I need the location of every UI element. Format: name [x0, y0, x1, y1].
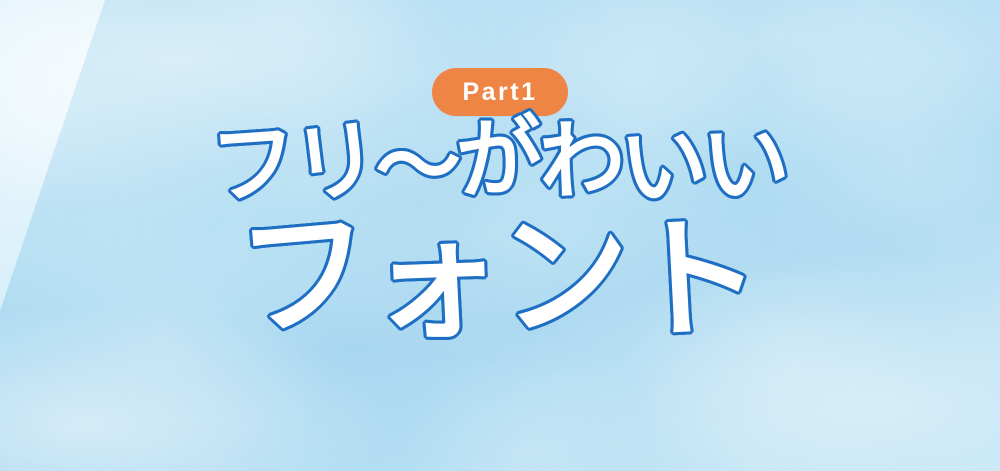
- headline-char: フ: [208, 119, 300, 211]
- headline-char: ト: [626, 211, 765, 350]
- headline-char: が: [453, 112, 546, 205]
- headline-line-2: フォント: [0, 208, 1000, 340]
- banner: Part1 フリ〜がわいい フォント: [0, 0, 1000, 471]
- headline-char: い: [700, 118, 792, 210]
- part-badge[interactable]: Part1: [432, 68, 567, 116]
- headline-char: 〜: [374, 123, 463, 212]
- headline-char: リ: [288, 115, 384, 211]
- headline-char: ォ: [367, 214, 504, 351]
- headline-char: ン: [492, 201, 637, 346]
- headline-char: わ: [537, 116, 627, 206]
- headline: フリ〜がわいい フォント: [0, 118, 1000, 340]
- headline-char: い: [617, 119, 712, 214]
- headline-char: フ: [234, 204, 377, 347]
- headline-line-1: フリ〜がわいい: [0, 118, 1000, 204]
